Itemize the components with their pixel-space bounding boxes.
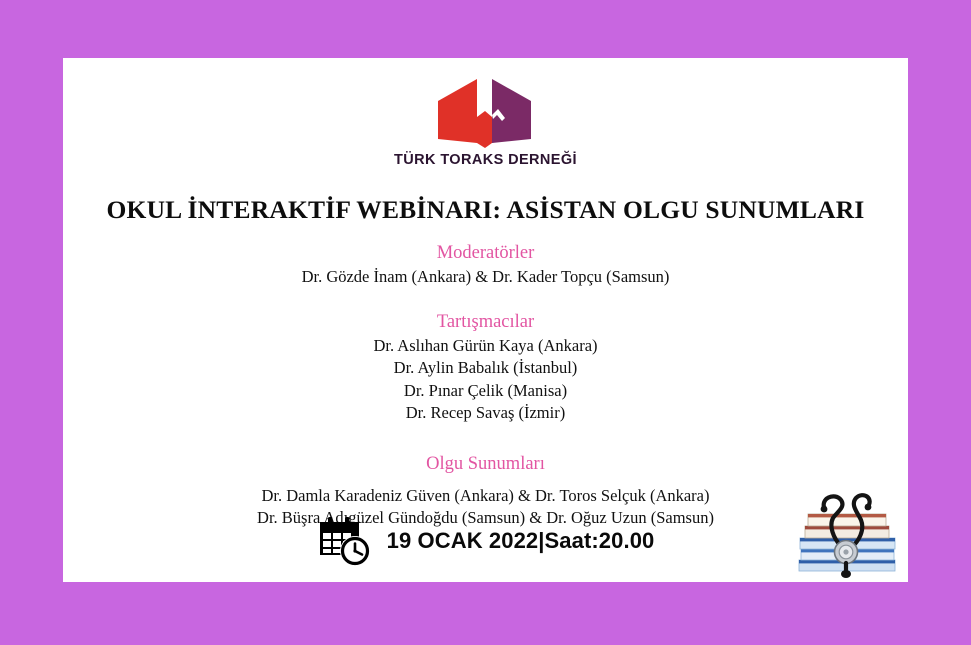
list-item: Dr. Damla Karadeniz Güven (Ankara) & Dr.… <box>63 485 908 507</box>
datetime-row: 19 OCAK 2022|Saat:20.00 <box>63 515 908 567</box>
section-discussants: Tartışmacılar Dr. Aslıhan Gürün Kaya (An… <box>63 310 908 425</box>
list-item: Dr. Aylin Babalık (İstanbul) <box>63 357 908 379</box>
section-body-discussants: Dr. Aslıhan Gürün Kaya (Ankara) Dr. Ayli… <box>63 335 908 425</box>
page-title: OKUL İNTERAKTİF WEBİNARI: ASİSTAN OLGU S… <box>63 195 908 225</box>
list-item: Dr. Gözde İnam (Ankara) & Dr. Kader Topç… <box>63 266 908 288</box>
list-item: Dr. Recep Savaş (İzmir) <box>63 402 908 424</box>
organization-logo: TÜRK TORAKS DERNEĞİ <box>63 77 908 168</box>
sections-container: Moderatörler Dr. Gözde İnam (Ankara) & D… <box>63 241 908 529</box>
section-heading-moderators: Moderatörler <box>63 241 908 266</box>
event-datetime: 19 OCAK 2022|Saat:20.00 <box>387 528 655 554</box>
list-item: Dr. Pınar Çelik (Manisa) <box>63 380 908 402</box>
section-heading-case-presentations: Olgu Sunumları <box>63 452 908 477</box>
section-body-moderators: Dr. Gözde İnam (Ankara) & Dr. Kader Topç… <box>63 266 908 288</box>
logo-wordmark: TÜRK TORAKS DERNEĞİ <box>63 152 908 168</box>
spacer <box>63 288 908 310</box>
turk-toraks-dernegi-lung-logo-icon <box>430 77 542 149</box>
list-item: Dr. Aslıhan Gürün Kaya (Ankara) <box>63 335 908 357</box>
calendar-clock-icon <box>317 515 373 567</box>
books-stethoscope-photo <box>789 486 907 582</box>
section-moderators: Moderatörler Dr. Gözde İnam (Ankara) & D… <box>63 241 908 288</box>
section-heading-discussants: Tartışmacılar <box>63 310 908 335</box>
poster-panel: TÜRK TORAKS DERNEĞİ OKUL İNTERAKTİF WEBİ… <box>63 58 908 582</box>
spacer <box>63 425 908 452</box>
